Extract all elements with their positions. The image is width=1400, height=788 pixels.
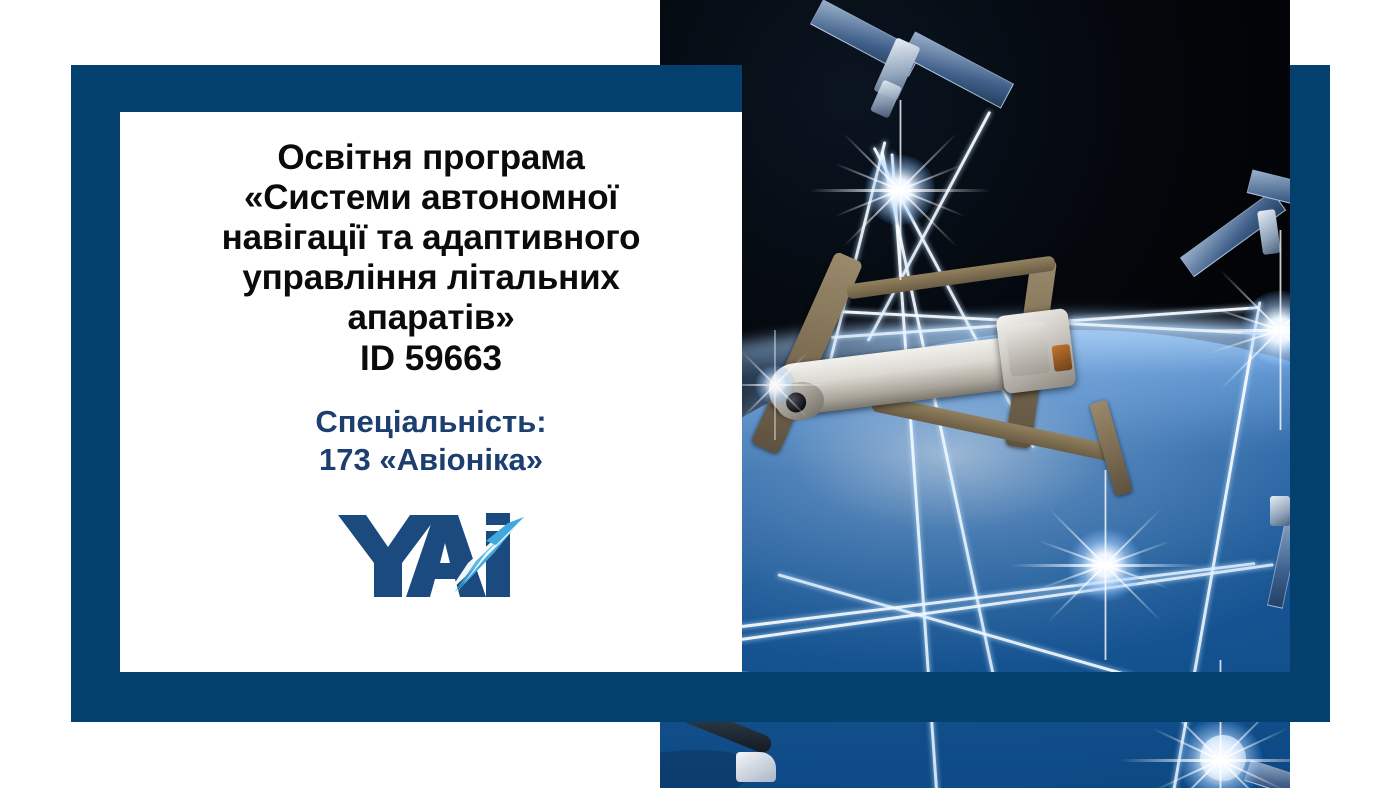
uav-boom-lower: [871, 394, 1119, 463]
frame-top-bar: [71, 65, 742, 112]
frame-right-bar: [1290, 65, 1330, 722]
info-card: Освітня програма «Системи автономної нав…: [120, 112, 742, 672]
page-title: Освітня програма «Системи автономної нав…: [151, 138, 711, 337]
dish-antenna: [1200, 735, 1246, 781]
satellite-bottom-right: [1190, 735, 1290, 788]
khai-logo: [336, 501, 526, 606]
title-line-2: «Системи автономної: [244, 178, 618, 217]
frame-left-bar: [71, 65, 120, 722]
title-line-4: управління літальних: [242, 258, 619, 297]
specialty-label: Спеціальність:: [315, 404, 546, 439]
uav-wing-left: [751, 251, 864, 455]
satellite-body: [1270, 496, 1290, 526]
satellite-top-left: [810, 8, 1000, 148]
specialty-value: 173 «Авіоніка»: [319, 442, 543, 477]
title-line-5: апаратів»: [348, 298, 515, 337]
solar-panel: [1267, 519, 1290, 608]
program-id: ID 59663: [360, 339, 502, 379]
khai-logo-svg: [336, 501, 526, 606]
frame-bottom-bar: [71, 672, 1330, 722]
solar-panel: [1244, 760, 1290, 788]
satellite-lower-right: [1258, 490, 1290, 630]
specialty-block: Спеціальність: 173 «Авіоніка»: [315, 403, 546, 479]
uav-engine: [996, 308, 1077, 394]
satellite-module: [736, 752, 776, 782]
title-line-1: Освітня програма: [277, 138, 584, 177]
uav-boom-upper: [846, 255, 1056, 299]
uav-drone: [750, 250, 1220, 490]
title-line-3: навігації та адаптивного: [222, 218, 641, 257]
poster-canvas: Освітня програма «Системи автономної нав…: [0, 0, 1400, 788]
solar-panel: [902, 31, 1014, 108]
space-photo: [660, 0, 1290, 788]
